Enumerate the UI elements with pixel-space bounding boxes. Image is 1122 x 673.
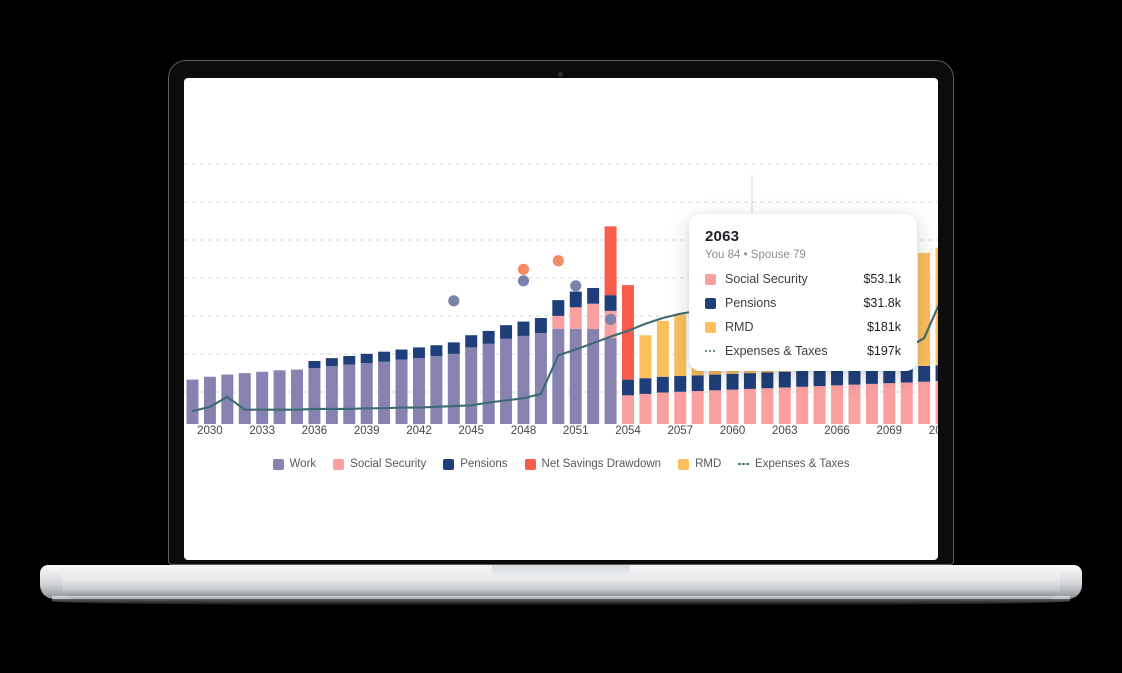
tooltip-row: Social Security$53.1k [705, 272, 901, 286]
bar-segment [552, 329, 564, 424]
legend-label: RMD [695, 458, 721, 470]
bar-segment [587, 288, 599, 304]
bar-segment [831, 385, 843, 424]
legend-label: Work [290, 458, 317, 470]
bar-segment [848, 385, 860, 424]
x-axis-tick-labels: 2030203320362039204220452048205120542057… [184, 425, 938, 445]
bar-segment [622, 395, 634, 424]
tooltip-row-value: $181k [867, 320, 901, 334]
bar-segment [674, 376, 686, 392]
tooltip-rows: Social Security$53.1kPensions$31.8kRMD$1… [705, 272, 901, 358]
chart-legend[interactable]: WorkSocial SecurityPensionsNet Savings D… [184, 458, 938, 470]
bar-segment [570, 307, 582, 328]
bar-segment [605, 226, 617, 295]
chart-dot-marker [448, 295, 459, 306]
laptop-base-notch [492, 565, 630, 578]
legend-label: Pensions [460, 458, 507, 470]
bar-segment [657, 321, 669, 377]
x-axis-label: 2033 [249, 425, 275, 437]
tooltip-ages: You 84 • Spouse 79 [705, 249, 901, 261]
bar-segment [605, 295, 617, 311]
bar-segment [570, 292, 582, 308]
bar-segment [343, 356, 355, 365]
retirement-income-chart[interactable]: 2030203320362039204220452048205120542057… [184, 78, 938, 560]
x-axis-label: 2039 [354, 425, 380, 437]
bar-segment [779, 387, 791, 424]
bar-segment [430, 356, 442, 424]
laptop-base-shadow [52, 596, 1070, 606]
tooltip-swatch-icon [705, 274, 716, 285]
bar-segment [639, 378, 651, 394]
bar-segment [727, 390, 739, 424]
bar-segment [465, 347, 477, 424]
screenshot-stage: 2030203320362039204220452048205120542057… [0, 0, 1122, 673]
bar-segment [918, 253, 930, 366]
bar-segment [274, 370, 286, 424]
bar-segment [814, 370, 826, 386]
tooltip-row: RMD$181k [705, 320, 901, 334]
bar-segment [308, 368, 320, 424]
tooltip-row-value: $53.1k [863, 272, 901, 286]
chart-tooltip: 2063 You 84 • Spouse 79 Social Security$… [689, 214, 917, 371]
legend-item-net-savings-drawdown[interactable]: Net Savings Drawdown [525, 458, 662, 470]
bar-segment [326, 366, 338, 424]
x-axis-label: 2063 [772, 425, 798, 437]
bar-segment [761, 372, 773, 388]
bar-segment [570, 329, 582, 424]
x-axis-label: 2072 [929, 425, 938, 437]
bar-segment [483, 344, 495, 424]
bar-segment [901, 382, 913, 424]
bar-segment [744, 373, 756, 389]
legend-item-work[interactable]: Work [273, 458, 317, 470]
chart-dot-marker [518, 264, 529, 275]
bar-segment [343, 365, 355, 424]
bar-segment [674, 392, 686, 424]
chart-dot-marker [518, 275, 529, 286]
x-axis-label: 2036 [302, 425, 328, 437]
dotted-line-icon [738, 463, 749, 466]
chart-dot-marker [605, 314, 616, 325]
bar-segment [814, 386, 826, 424]
bar-segment [779, 372, 791, 388]
bar-segment [605, 338, 617, 424]
bar-segment [517, 322, 529, 336]
tooltip-row-label: RMD [725, 320, 867, 334]
bar-segment [709, 390, 721, 424]
bar-segment [657, 377, 669, 393]
legend-item-expenses-taxes[interactable]: Expenses & Taxes [738, 458, 849, 470]
x-axis-label: 2054 [615, 425, 641, 437]
x-axis-label: 2042 [406, 425, 432, 437]
bar-segment [883, 383, 895, 424]
bar-segment [622, 380, 634, 396]
tooltip-row-value: $31.8k [863, 296, 901, 310]
x-axis-label: 2051 [563, 425, 589, 437]
bar-segment [378, 362, 390, 424]
legend-item-pensions[interactable]: Pensions [443, 458, 507, 470]
legend-label: Expenses & Taxes [755, 458, 849, 470]
legend-swatch-icon [333, 459, 344, 470]
bar-segment [552, 300, 564, 316]
bar-segment [535, 333, 547, 424]
x-axis-label: 2060 [720, 425, 746, 437]
bar-segment [187, 380, 199, 424]
x-axis-label: 2069 [877, 425, 903, 437]
bar-segment [918, 366, 930, 382]
bar-segment [396, 350, 408, 360]
tooltip-row: Expenses & Taxes$197k [705, 344, 901, 358]
tooltip-swatch-icon [705, 298, 716, 309]
bar-segment [936, 365, 938, 381]
bar-segment [465, 335, 477, 347]
bar-segment [639, 335, 651, 378]
chart-dot-marker [553, 255, 564, 266]
bar-segment [761, 388, 773, 424]
bar-segment [674, 314, 686, 376]
x-axis-label: 2066 [824, 425, 850, 437]
bar-segment [517, 336, 529, 424]
bar-segment [831, 370, 843, 386]
bar-segment [361, 363, 373, 424]
bar-segment [657, 393, 669, 425]
bar-segment [378, 352, 390, 362]
bar-segment [413, 347, 425, 358]
tooltip-swatch-icon [705, 322, 716, 333]
bar-segment [291, 370, 303, 424]
bar-segment [239, 373, 251, 424]
bar-segment [256, 372, 268, 424]
legend-item-rmd[interactable]: RMD [678, 458, 721, 470]
tooltip-year: 2063 [705, 228, 901, 245]
tooltip-row-label: Social Security [725, 272, 863, 286]
bar-segment [692, 375, 704, 391]
chart-dot-marker [570, 280, 581, 291]
x-axis-label: 2030 [197, 425, 223, 437]
x-axis-label: 2048 [511, 425, 537, 437]
legend-label: Net Savings Drawdown [542, 458, 662, 470]
bar-segment [448, 354, 460, 424]
legend-swatch-icon [443, 459, 454, 470]
bar-segment [326, 358, 338, 366]
bar-segment [727, 374, 739, 390]
tooltip-row-label: Expenses & Taxes [725, 344, 867, 358]
bar-segment [587, 304, 599, 329]
x-axis-label: 2045 [458, 425, 484, 437]
legend-label: Social Security [350, 458, 426, 470]
bar-segment [639, 394, 651, 424]
x-axis-label: 2057 [668, 425, 694, 437]
bar-segment [936, 381, 938, 424]
bar-segment [848, 369, 860, 385]
bar-segment [308, 361, 320, 368]
webcam-icon [558, 72, 563, 77]
legend-swatch-icon [273, 459, 284, 470]
bar-segment [535, 318, 547, 333]
legend-item-social-security[interactable]: Social Security [333, 458, 426, 470]
bar-segment [709, 375, 721, 391]
bar-segment [483, 331, 495, 344]
tooltip-row-value: $197k [867, 344, 901, 358]
tooltip-row-label: Pensions [725, 296, 863, 310]
bar-segment [796, 371, 808, 387]
bar-segment [396, 360, 408, 424]
bar-segment [552, 316, 564, 329]
legend-swatch-icon [678, 459, 689, 470]
bar-segment [500, 325, 512, 339]
bar-segment [692, 391, 704, 424]
tooltip-row: Pensions$31.8k [705, 296, 901, 310]
bar-segment [430, 345, 442, 356]
laptop-screen: 2030203320362039204220452048205120542057… [184, 78, 938, 560]
bar-segment [796, 387, 808, 424]
dotted-line-icon [705, 350, 716, 352]
bar-segment [361, 354, 373, 363]
bar-segment [744, 389, 756, 424]
bar-segment [918, 382, 930, 424]
bar-segment [448, 342, 460, 353]
legend-swatch-icon [525, 459, 536, 470]
bar-segment [413, 358, 425, 424]
bar-segment [866, 384, 878, 424]
bar-segment [204, 377, 216, 424]
bar-segment [500, 339, 512, 424]
